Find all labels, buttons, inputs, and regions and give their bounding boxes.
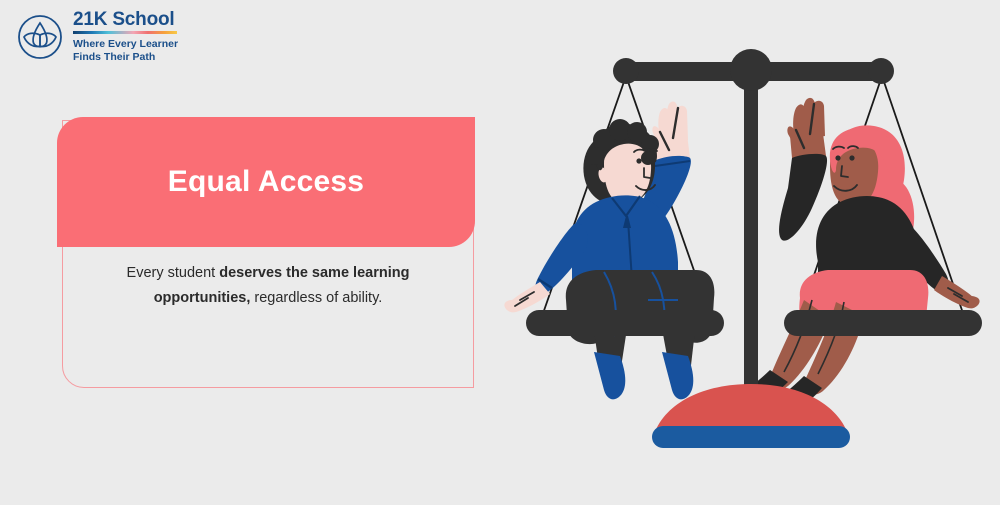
card-body-text: Every student deserves the same learning… [63,261,473,312]
student-right [729,98,979,420]
brand-gradient-rule [73,31,177,34]
card-body-part2: regardless of ability. [250,290,382,306]
brand-tagline: Where Every Learner Finds Their Path [73,38,178,64]
card-header: Equal Access [57,117,475,247]
scale-pole [744,66,758,404]
card-body-part1: Every student [127,265,220,281]
brand-logo-text: 21K School Where Every Learner Finds The… [73,10,178,64]
brand-name: 21K School [73,10,178,29]
scale-beam-end-right [868,58,894,84]
equal-access-card: Equal Access Every student deserves the … [62,120,474,388]
scale-beam-end-left [613,58,639,84]
lotus-circle-logo-icon [16,13,64,61]
page-title: Equal Access [168,165,364,199]
student-left [504,102,714,400]
brand-tagline-line1: Where Every Learner [73,38,178,50]
scale-pivot [730,49,772,91]
scale-pan-left [526,310,724,336]
balance-scale-illustration [500,0,1000,500]
brand-logo: 21K School Where Every Learner Finds The… [16,10,178,64]
scale-base-bar [652,426,850,448]
scale-pan-right [784,310,982,336]
brand-tagline-line2: Finds Their Path [73,51,155,63]
